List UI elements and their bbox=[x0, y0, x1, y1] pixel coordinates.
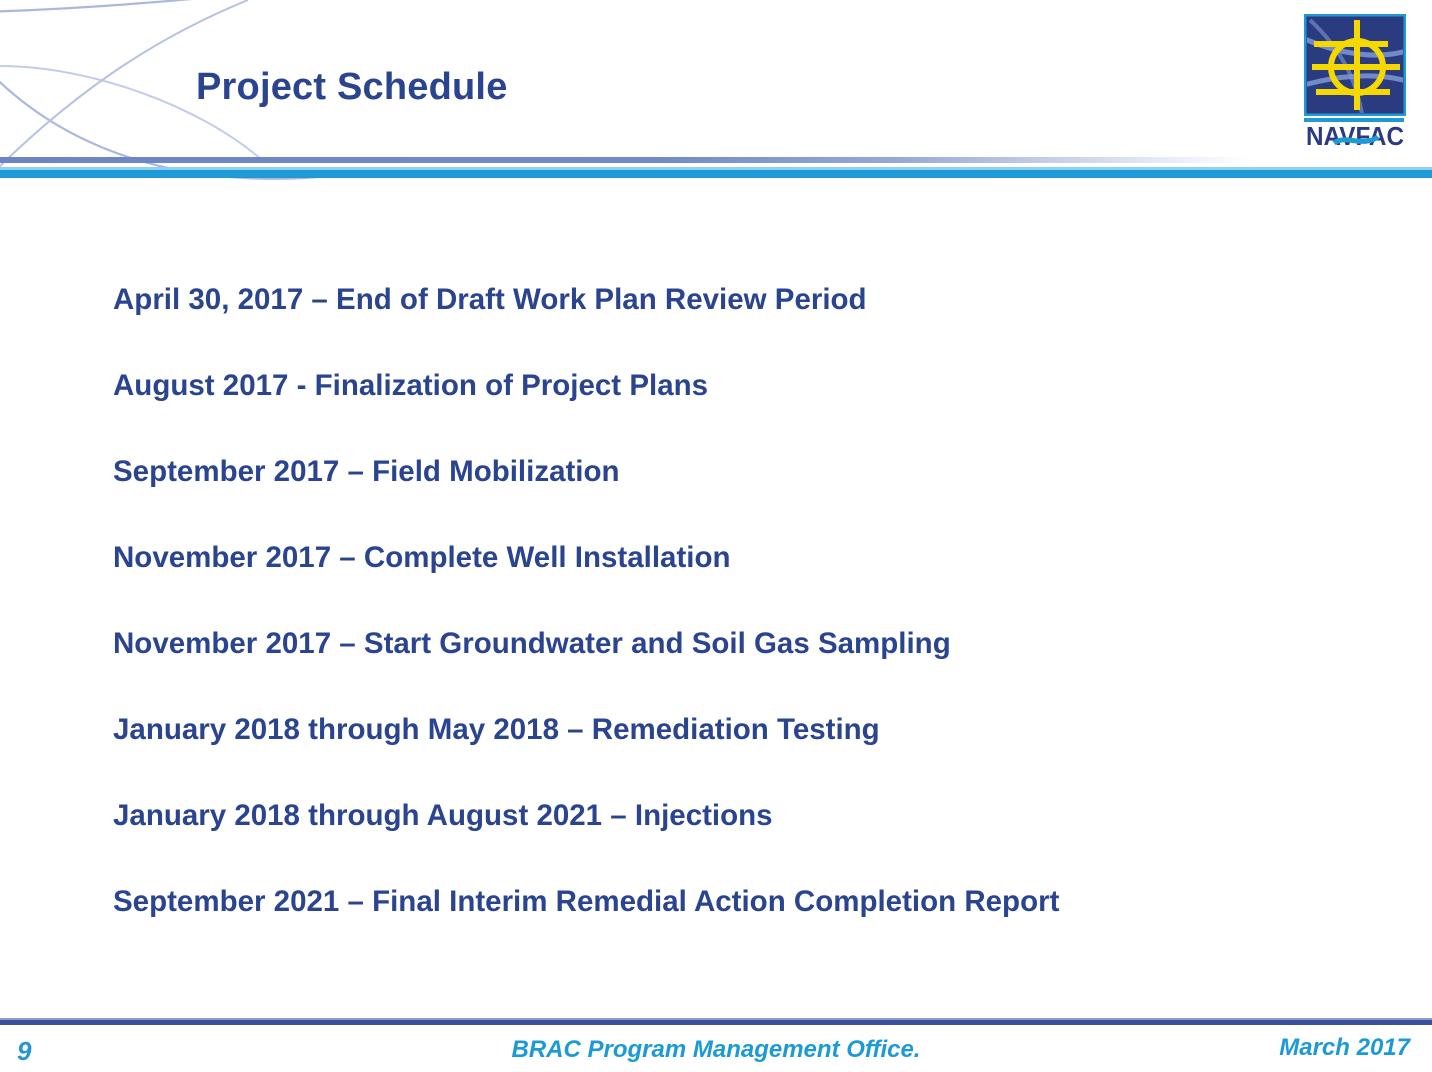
schedule-item: November 2017 – Complete Well Installati… bbox=[113, 539, 1363, 577]
schedule-item: April 30, 2017 – End of Draft Work Plan … bbox=[113, 281, 1363, 319]
footer-date: March 2017 bbox=[1279, 1034, 1410, 1062]
slide: Project Schedule NAVFAC bbox=[0, 0, 1432, 1072]
header-rule-periwinkle bbox=[0, 157, 1252, 163]
svg-text:NAVFAC: NAVFAC bbox=[1306, 121, 1404, 151]
schedule-item: January 2018 through August 2021 – Injec… bbox=[113, 797, 1363, 835]
schedule-item: September 2021 – Final Interim Remedial … bbox=[113, 883, 1363, 921]
navfac-wordmark: NAVFAC bbox=[1300, 118, 1410, 154]
schedule-item: September 2017 – Field Mobilization bbox=[113, 453, 1363, 491]
navfac-logo: NAVFAC bbox=[1300, 14, 1410, 154]
navfac-target-icon bbox=[1304, 14, 1406, 116]
page-title: Project Schedule bbox=[196, 66, 508, 109]
footer-organization: BRAC Program Management Office. bbox=[0, 1036, 1432, 1064]
schedule-item: August 2017 - Finalization of Project Pl… bbox=[113, 367, 1363, 405]
header-rule-cyan bbox=[0, 170, 1432, 178]
schedule-list: April 30, 2017 – End of Draft Work Plan … bbox=[113, 281, 1363, 921]
footer-rule bbox=[0, 1020, 1432, 1025]
schedule-item: November 2017 – Start Groundwater and So… bbox=[113, 625, 1363, 663]
schedule-item: January 2018 through May 2018 – Remediat… bbox=[113, 711, 1363, 749]
